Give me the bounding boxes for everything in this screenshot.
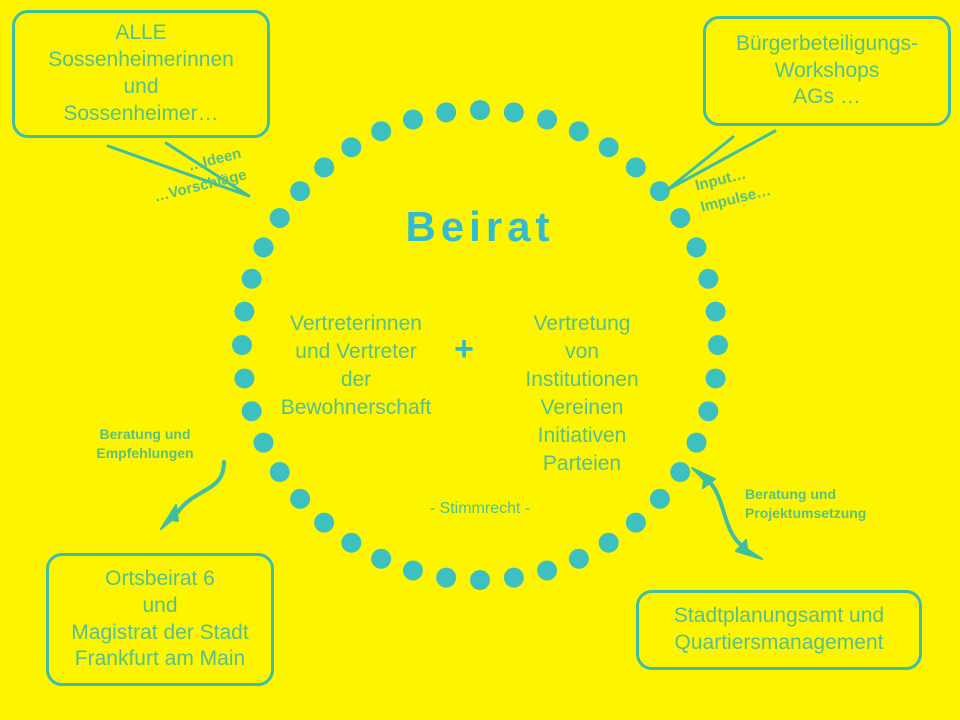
callout-line: AGs … (793, 84, 861, 111)
circle-dot (698, 401, 718, 421)
circle-dot (698, 269, 718, 289)
diagram-canvas: ALLE Sossenheimerinnen und Sossenheimer…… (0, 0, 960, 720)
box-line: Stadtplanungsamt und (674, 603, 884, 630)
callout-line: und (123, 74, 158, 101)
circle-dot (341, 137, 361, 157)
callout-box-participation-workshops[interactable]: Bürgerbeteiligungs- Workshops AGs … (703, 16, 951, 126)
circle-dot (242, 269, 262, 289)
column-line: Initiativen (490, 422, 674, 450)
arrow-label-beratung-empfehlungen: Beratung und Empfehlungen (80, 425, 210, 463)
arrow-head-down-right (736, 540, 762, 559)
box-line: Magistrat der Stadt (71, 620, 248, 647)
circle-dot (537, 560, 557, 580)
circle-dot (314, 157, 334, 177)
circle-dot (706, 302, 726, 322)
column-line: Vertreterinnen (262, 310, 450, 338)
circle-dot (270, 462, 290, 482)
box-line: Frankfurt am Main (75, 646, 245, 673)
circle-dot (371, 549, 391, 569)
column-line: der (262, 366, 450, 394)
callout-line: ALLE (115, 20, 166, 47)
circle-dot (470, 100, 490, 120)
column-line: Institutionen (490, 366, 674, 394)
circle-dot (234, 302, 254, 322)
circle-dot (599, 533, 619, 553)
circle-dot (569, 121, 589, 141)
circle-dot (504, 568, 524, 588)
callout-line: Workshops (775, 58, 880, 85)
circle-dot (254, 433, 274, 453)
circle-dot (232, 335, 252, 355)
circle-dot (436, 102, 456, 122)
callout-line: Sossenheimerinnen (48, 47, 234, 74)
arrow-head-up-left (692, 468, 715, 488)
center-column-residents: Vertreterinnen und Vertreter der Bewohne… (262, 310, 450, 422)
circle-dot (371, 121, 391, 141)
circle-dot (242, 401, 262, 421)
column-line: Vertretung (490, 310, 674, 338)
circle-dot (403, 110, 423, 130)
callout-line: Bürgerbeteiligungs- (736, 31, 918, 58)
circle-dot (436, 568, 456, 588)
arrow-label-line: Projektumsetzung (745, 504, 915, 523)
circle-dot (470, 570, 490, 590)
center-title-beirat: Beirat (0, 203, 960, 251)
center-column-institutions: Vertretung von Institutionen Vereinen In… (490, 310, 674, 478)
circle-dot (626, 157, 646, 177)
box-stadtplanungsamt-quartiersmanagement[interactable]: Stadtplanungsamt und Quartiersmanagement (636, 590, 922, 670)
column-line: von (490, 338, 674, 366)
callout-line: Sossenheimer… (63, 101, 218, 128)
circle-dot (537, 110, 557, 130)
column-line: und Vertreter (262, 338, 450, 366)
arrow-label-line: Beratung und (80, 425, 210, 444)
circle-dot (599, 137, 619, 157)
circle-dot (708, 335, 728, 355)
circle-dot (706, 368, 726, 388)
circle-dot (686, 433, 706, 453)
circle-dot (504, 102, 524, 122)
column-line: Parteien (490, 450, 674, 478)
circle-dot (341, 533, 361, 553)
circle-dot (234, 368, 254, 388)
box-line: Quartiersmanagement (675, 630, 884, 657)
arrow-label-beratung-projektumsetzung: Beratung und Projektumsetzung (745, 485, 915, 523)
circle-dot (569, 549, 589, 569)
column-line: Vereinen (490, 394, 674, 422)
box-ortsbeirat-magistrat[interactable]: Ortsbeirat 6 und Magistrat der Stadt Fra… (46, 553, 274, 686)
circle-dot (650, 181, 670, 201)
column-line: Bewohnerschaft (262, 394, 450, 422)
circle-dot (290, 181, 310, 201)
circle-dot (403, 560, 423, 580)
arrow-label-line: Beratung und (745, 485, 915, 504)
callout-box-all-residents[interactable]: ALLE Sossenheimerinnen und Sossenheimer… (12, 10, 270, 138)
arrow-label-line: Empfehlungen (80, 444, 210, 463)
box-line: Ortsbeirat 6 (105, 566, 215, 593)
plus-icon: + (446, 332, 482, 366)
box-line: und (142, 593, 177, 620)
